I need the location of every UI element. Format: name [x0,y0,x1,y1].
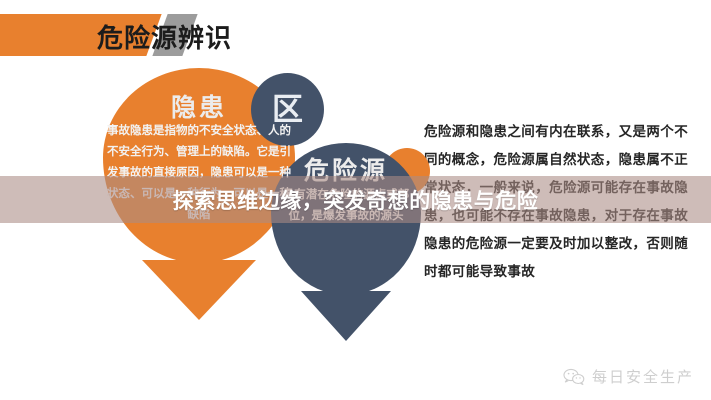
caption-text: 探索思维边缘，突发奇想的隐患与危险 [173,185,539,215]
pin-hazard-source-tip [301,291,391,341]
watermark: 每日安全生产 [563,366,694,387]
slide-canvas: 危险源辨识 隐患 事故隐患是指物的不安全状态、人的不安全行为、管理上的缺陷。它是… [0,0,711,400]
pin-hazard-risk-tip [142,260,256,320]
pin-hazard-risk-heading: 隐患 [103,88,295,124]
watermark-label: 每日安全生产 [592,366,694,387]
page-title: 危险源辨识 [97,18,232,55]
pin-hazard-risk: 隐患 事故隐患是指物的不安全状态、人的不安全行为、管理上的缺陷。它是引发事故的直… [103,68,295,263]
caption-overlay-band: 探索思维边缘，突发奇想的隐患与危险 [0,176,711,223]
wechat-icon [563,368,585,386]
